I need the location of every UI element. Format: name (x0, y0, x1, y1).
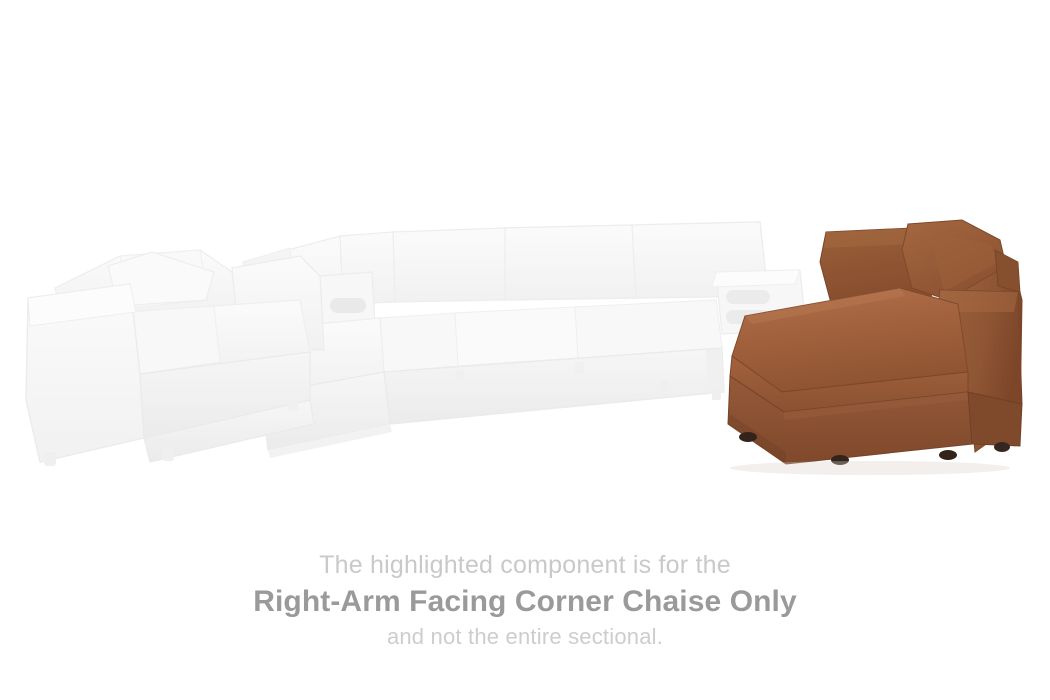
chaise-foot-right (939, 450, 957, 460)
caption-line-primary: The highlighted component is for the (0, 548, 1050, 582)
caption-block: The highlighted component is for the Rig… (0, 548, 1050, 652)
caption-line-disclaimer: and not the entire sectional. (0, 622, 1050, 652)
chaise-foot-back-right (994, 442, 1010, 452)
armless-chair-backs (340, 222, 768, 304)
chaise-foot-left (739, 432, 757, 442)
caption-component-name: Right-Arm Facing Corner Chaise Only (0, 582, 1050, 622)
